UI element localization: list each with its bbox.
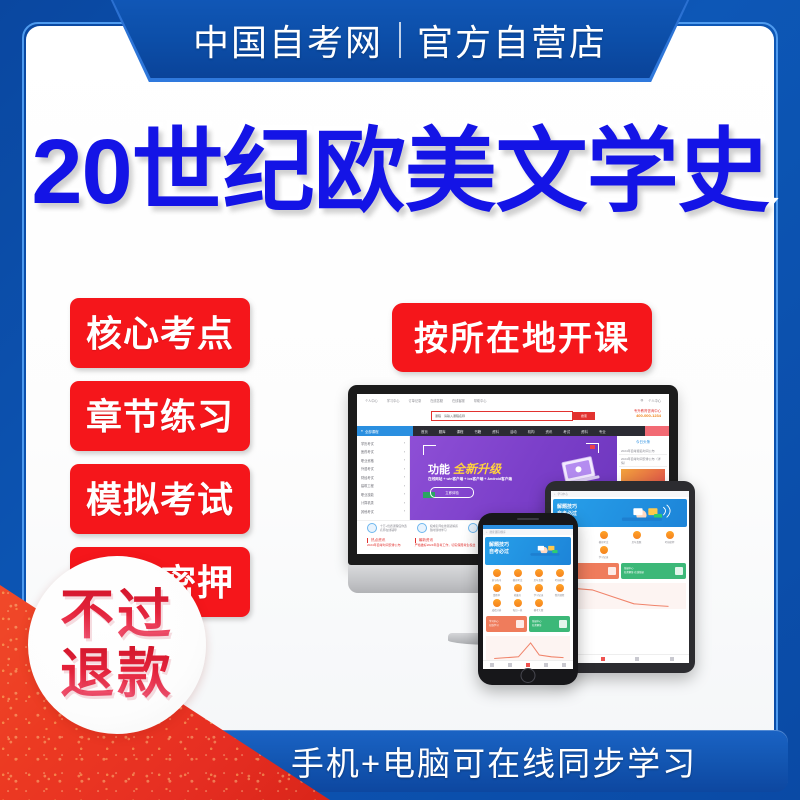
site-search-row: 课程 请输入课程名称 搜索	[357, 406, 669, 426]
grid-item[interactable]: 成绩分析	[486, 599, 507, 612]
sidebar-item[interactable]: 建筑工程›	[357, 482, 409, 491]
compass-icon	[544, 663, 548, 667]
nav-link[interactable]: 书籍	[474, 429, 481, 434]
grid-item-icon	[514, 584, 522, 592]
nav-accent-block	[645, 426, 669, 436]
sidebar-item[interactable]: 财经考试›	[357, 473, 409, 482]
grid-item[interactable]: 模拟考试	[587, 531, 620, 544]
grid-item[interactable]: 模拟考试	[507, 569, 528, 582]
footer-section: 最新资讯 严格做好2024年自考工作，切实保障考生权益	[415, 538, 476, 547]
grid-item-icon	[493, 599, 501, 607]
promo-banner-subtitle: 在线网站 + win客户端 + ios客户端 + Android客户端	[428, 477, 512, 482]
grid-item-icon	[556, 569, 564, 577]
grid-item-icon	[633, 531, 641, 539]
grid-item-icon	[666, 531, 674, 539]
sidebar-item[interactable]: 学历考试›	[357, 439, 409, 448]
hotline-block: 专升教育咨询中心 400-000-1234	[634, 408, 661, 418]
grid-item-label: 模拟考试	[599, 540, 609, 544]
search-placeholder: 请输入课程名称	[441, 414, 465, 418]
menu-icon: ≡	[361, 429, 363, 433]
hotline-number: 400-000-1234	[634, 413, 661, 418]
phone-hero-text: 解题技巧 自考必过	[489, 542, 509, 555]
feature-badge[interactable]: 模拟考试	[70, 464, 250, 534]
guarantee-seal: 不过 退款	[28, 556, 206, 734]
phone-screen: ⌕ 搜索课程/题库 解题技巧 自考必过	[483, 525, 573, 669]
tablet-app-title: 学习中心	[557, 492, 567, 496]
grid-item-icon	[600, 531, 608, 539]
site-main-nav: ≡ 全部课程 首页 题库 课程 书籍 资料 活动 机构	[357, 426, 669, 436]
grid-item-label: 历年真题	[534, 578, 544, 582]
sidebar-item-label: 医药考试	[361, 449, 374, 454]
compass-icon	[635, 657, 639, 661]
grid-item-label: 模拟考试	[513, 578, 523, 582]
grid-item-icon	[600, 546, 608, 554]
utility-nav-item[interactable]: 学习中心	[387, 398, 400, 403]
study-illustration-icon	[518, 540, 570, 560]
search-icon[interactable]: ⌕	[554, 493, 555, 496]
user-icon	[670, 657, 674, 661]
nav-link[interactable]: 资料	[581, 429, 588, 434]
grid-item-label: 考前密押	[555, 578, 565, 582]
chevron-right-icon: ›	[404, 509, 405, 513]
search-input[interactable]: 课程 请输入课程名称	[431, 411, 573, 421]
nav-link[interactable]: 机构	[528, 429, 535, 434]
nav-link[interactable]: 资讯	[545, 429, 552, 434]
grid-item[interactable]: 历年真题	[528, 569, 549, 582]
star-icon	[367, 523, 377, 533]
feature-badge[interactable]: 核心考点	[70, 298, 250, 368]
feature-item	[468, 523, 478, 533]
phone-feature-grid: 章节练习 模拟考试 历年真题 考前密押 错题本 收藏夹 学习记录 我的课程 成绩…	[483, 567, 573, 614]
grid-item[interactable]: 每日一练	[507, 599, 528, 612]
book-icon	[601, 657, 605, 661]
footer-section: 热点资讯 2024年自考时间安排公布	[367, 538, 401, 547]
tab-course[interactable]	[501, 661, 519, 669]
tab-profile[interactable]	[655, 655, 690, 663]
hero-line-2: 自考必过	[489, 549, 509, 556]
user-icon	[562, 663, 566, 667]
utility-nav-right: ◍ 个人中心	[640, 398, 661, 403]
grid-item-icon	[535, 599, 543, 607]
chevron-right-icon: ›	[404, 475, 405, 479]
news-item[interactable]: 2024年自考时间安排公布（详情）	[619, 455, 667, 467]
utility-nav-item[interactable]: 个人中心	[365, 398, 378, 403]
chevron-right-icon: ›	[404, 458, 405, 462]
grid-item[interactable]: 章节练习	[486, 569, 507, 582]
pencil-icon	[526, 663, 530, 667]
grid-item-label: 考前密押	[665, 540, 675, 544]
store-header: 中国自考网 官方自营店	[0, 0, 800, 90]
nav-link[interactable]: 题库	[439, 429, 446, 434]
tab-discover[interactable]	[537, 661, 555, 669]
account-link[interactable]: 个人中心	[648, 398, 661, 403]
sidebar-item-label: 外语考试	[361, 466, 374, 471]
utility-nav-item[interactable]: 订单记录	[409, 398, 422, 403]
phone-hero-banner[interactable]: 解题技巧 自考必过	[485, 537, 571, 565]
grid-item-icon	[556, 584, 564, 592]
home-icon	[490, 663, 494, 667]
record-dot-icon	[590, 445, 595, 449]
phone-search-bar[interactable]: ⌕ 搜索课程/题库	[483, 529, 573, 535]
page-title: 20世纪欧美文学史	[0, 124, 800, 221]
feature-line-2: 名师在线辅导	[380, 528, 407, 532]
grid-item-icon	[514, 569, 522, 577]
grid-item-label: 学习记录	[534, 593, 544, 597]
chevron-right-icon: ›	[404, 484, 405, 488]
feature-item: 十万+优质课程任你选 名师在线辅导	[367, 523, 407, 533]
feature-line-2: 随时随地学习	[430, 528, 458, 532]
grid-item-label: 成绩分析	[492, 608, 502, 612]
promo-title-plain: 功能	[428, 461, 450, 477]
sidebar-item-label: 财经考试	[361, 475, 374, 480]
sidebar-item[interactable]: 计算机类›	[357, 499, 409, 508]
bracket-corner-icon	[423, 445, 436, 455]
hero-line-1: 解题技巧	[489, 542, 509, 549]
promo-cta-button[interactable]: 立即体验	[430, 487, 474, 498]
tab-home[interactable]	[483, 661, 501, 669]
nav-link[interactable]: 考试	[563, 429, 570, 434]
search-icon[interactable]: ⌕	[486, 531, 487, 534]
document-icon	[516, 620, 524, 628]
phone-search-placeholder: 搜索课程/题库	[489, 530, 505, 534]
site-utility-nav: 个人中心 学习中心 订单记录 在线答疑 在线客服 帮助中心 ◍ 个人中心	[357, 394, 669, 406]
category-menu-button[interactable]: ≡ 全部课程	[357, 426, 413, 436]
grid-item[interactable]: 学习记录	[587, 546, 620, 559]
teacher-icon	[675, 567, 683, 575]
grid-item-label: 我的课程	[555, 593, 565, 597]
chart-line-icon	[486, 636, 570, 662]
header-divider	[399, 22, 401, 58]
nav-link[interactable]: 首页	[421, 429, 428, 434]
promo-banner-title: 功能 全新升级	[428, 460, 501, 477]
card-subtitle: 名师解答	[532, 624, 542, 628]
grid-item-label: 模考大赛	[534, 608, 544, 612]
phone-card-text: 答疑中心 名师解答	[532, 620, 542, 627]
nav-link[interactable]: 专业	[599, 429, 606, 434]
news-panel-title: 今日头条	[619, 438, 667, 447]
user-icon: ◍	[640, 398, 643, 402]
grid-item[interactable]: 收藏夹	[507, 584, 528, 597]
grid-item-label: 章节练习	[492, 578, 502, 582]
nav-link[interactable]: 活动	[510, 429, 517, 434]
hero-line-1: 解题技巧	[557, 504, 577, 511]
main-nav-links: 首页 题库 课程 书籍 资料 活动 机构 资讯 考试 资料 专业	[413, 426, 645, 436]
phone-card-row: 学习中心 在线学习 答疑中心 名师解答	[483, 614, 573, 634]
promo-title-highlight: 全新升级	[453, 460, 501, 477]
study-illustration-icon	[599, 501, 685, 527]
feature-item: 权威名师在线答疑解惑 随时随地学习	[417, 523, 458, 533]
device-mockup-group: 个人中心 学习中心 订单记录 在线答疑 在线客服 帮助中心 ◍ 个人中心	[330, 385, 750, 685]
chevron-right-icon: ›	[404, 450, 405, 454]
utility-nav-item[interactable]: 在线客服	[452, 398, 465, 403]
grid-item[interactable]: 错题本	[486, 584, 507, 597]
grid-item-icon	[493, 584, 501, 592]
grid-item-icon	[514, 599, 522, 607]
tab-profile[interactable]	[555, 661, 573, 669]
book-icon	[508, 663, 512, 667]
chevron-right-icon: ›	[404, 501, 405, 505]
search-category[interactable]: 课程	[432, 414, 441, 418]
chevron-right-icon: ›	[404, 492, 405, 496]
sidebar-item-label: 计算机类	[361, 500, 374, 505]
grid-item-label: 错题本	[493, 593, 500, 597]
grid-item-icon	[535, 569, 543, 577]
teacher-icon	[559, 620, 567, 628]
nav-link[interactable]: 资料	[492, 429, 499, 434]
medal-icon	[417, 523, 427, 533]
sidebar-item-label: 其他考试	[361, 509, 374, 514]
phone-home-button[interactable]	[521, 668, 536, 683]
phone-card[interactable]: 答疑中心 名师解答	[529, 616, 570, 632]
chevron-right-icon: ›	[404, 441, 405, 445]
tablet-app-bar: ⌕ 学习中心	[551, 491, 689, 497]
tablet-card[interactable]: 答疑中心 名师解答 在线答疑	[621, 563, 686, 579]
phone-chart	[486, 636, 570, 662]
search-button[interactable]: 搜索	[573, 412, 595, 420]
grid-item-label: 学习记录	[599, 555, 609, 559]
grid-item[interactable]: 考前密押	[653, 531, 686, 544]
grid-item[interactable]: 我的课程	[549, 584, 570, 597]
book-icon	[468, 523, 478, 533]
feature-item-text: 权威名师在线答疑解惑 随时随地学习	[430, 524, 458, 532]
sidebar-item[interactable]: 职业技能›	[357, 490, 409, 499]
sidebar-item-label: 职业技能	[361, 492, 374, 497]
header-text-row: 中国自考网 官方自营店	[0, 0, 800, 80]
grid-item-label: 收藏夹	[514, 593, 521, 597]
utility-nav-item[interactable]: 在线答疑	[430, 398, 443, 403]
brand-name: 中国自考网	[193, 14, 383, 66]
sidebar-item-label: 职业资格	[361, 458, 374, 463]
card-subtitle: 名师解答 在线答疑	[624, 571, 644, 575]
document-icon	[608, 567, 616, 575]
grid-item[interactable]: 学习记录	[528, 584, 549, 597]
tab-study[interactable]	[586, 655, 621, 663]
tablet-card-text: 答疑中心 名师解答 在线答疑	[624, 567, 644, 574]
location-course-badge[interactable]: 按所在地开课	[392, 303, 652, 372]
poster-root: 中国自考网 官方自营店 20世纪欧美文学史 核心考点 章节练习 模拟考试 考前密…	[0, 0, 800, 800]
sidebar-item[interactable]: 外语考试›	[357, 465, 409, 474]
tab-discover[interactable]	[620, 655, 655, 663]
phone-card-text: 学习中心 在线学习	[489, 620, 499, 627]
sidebar-item-label: 建筑工程	[361, 483, 374, 488]
seal-line-2: 退款	[60, 646, 174, 703]
phone-card[interactable]: 学习中心 在线学习	[486, 616, 527, 632]
footer-section-item[interactable]: 2024年自考时间安排公布	[367, 543, 401, 547]
store-type-label: 官方自营店	[417, 14, 607, 66]
grid-item-icon	[493, 569, 501, 577]
category-sidebar: 学历考试› 医药考试› 职业资格› 外语考试› 财经考试› 建筑工程› 职业技能…	[357, 436, 410, 520]
utility-nav-item[interactable]: 帮助中心	[474, 398, 487, 403]
footer-section-item[interactable]: 严格做好2024年自考工作，切实保障考生权益	[415, 543, 476, 547]
grid-item-icon	[535, 584, 543, 592]
seal-line-1: 不过	[60, 587, 174, 644]
sidebar-item-label: 学历考试	[361, 441, 374, 446]
phone-speaker	[517, 518, 539, 520]
news-item[interactable]: 2024年自考报名时间公布	[619, 447, 667, 455]
grid-item[interactable]: 考前密押	[549, 569, 570, 582]
grid-item[interactable]: 历年真题	[620, 531, 653, 544]
grid-item-label: 历年真题	[632, 540, 642, 544]
card-subtitle: 在线学习	[489, 624, 499, 628]
feature-badge[interactable]: 章节练习	[70, 381, 250, 451]
sidebar-item[interactable]: 医药考试›	[357, 448, 409, 457]
chevron-right-icon: ›	[404, 467, 405, 471]
sidebar-item[interactable]: 其他考试›	[357, 507, 409, 516]
category-menu-label: 全部课程	[365, 429, 379, 434]
sidebar-item[interactable]: 职业资格›	[357, 456, 409, 465]
grid-item-label: 每日一练	[513, 608, 523, 612]
grid-item[interactable]: 模考大赛	[528, 599, 549, 612]
nav-link[interactable]: 课程	[457, 429, 464, 434]
phone-mockup: ⌕ 搜索课程/题库 解题技巧 自考必过	[478, 513, 578, 685]
feature-item-text: 十万+优质课程任你选 名师在线辅导	[380, 524, 407, 532]
